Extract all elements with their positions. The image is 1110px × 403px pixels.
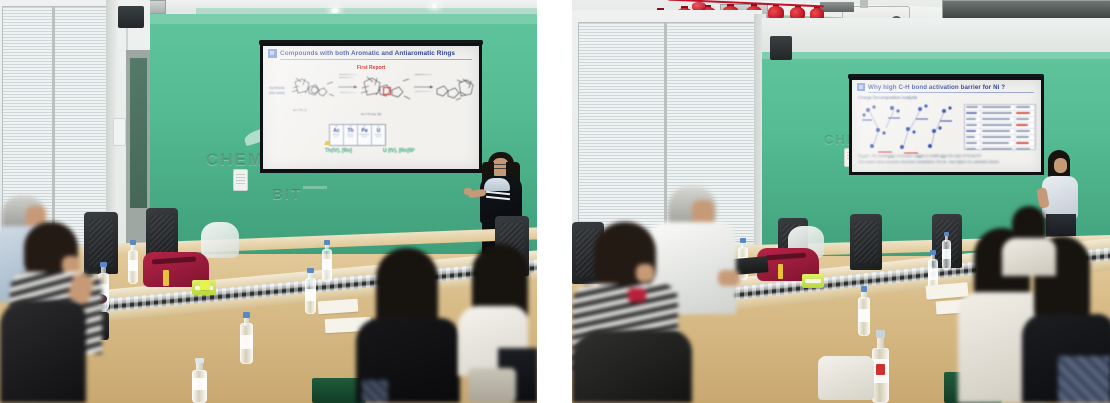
ptable-cell: 92 U Uranium 238.03 bbox=[372, 125, 385, 145]
reaction-condition-5 bbox=[415, 91, 433, 92]
slide-title: Compounds with both Aromatic and Antiaro… bbox=[280, 50, 455, 57]
black-jacket-skirt bbox=[362, 380, 388, 403]
slide-footer-right: U (IV), [Rn]5f² bbox=[383, 148, 415, 154]
projector-mount bbox=[860, 0, 868, 8]
left-photo: CHEM BIT Compounds with both Aromatic an… bbox=[0, 0, 537, 403]
door-glass bbox=[130, 58, 147, 208]
slide-side-label-1: Synthesis bbox=[269, 86, 285, 90]
reaction-condition-1 bbox=[339, 74, 357, 75]
ptable-symbol: Ac bbox=[333, 129, 339, 134]
foreground-dark-body bbox=[0, 300, 86, 403]
foreground-dark-body bbox=[572, 330, 692, 403]
structure-note-2: An = Th (1a, 1b) bbox=[361, 112, 381, 116]
projector-bracket bbox=[820, 2, 854, 12]
ptable-mass: 231.04 bbox=[362, 136, 367, 138]
water-bottle bbox=[305, 268, 316, 314]
green-tissue-box bbox=[802, 274, 824, 288]
slide-title: Why high C-H bond activation barrier for… bbox=[868, 84, 1005, 91]
reaction-arrow-2 bbox=[413, 79, 435, 91]
slide-bullet-icon bbox=[268, 49, 277, 58]
audience-black-jacket bbox=[362, 248, 454, 403]
right-3-top bbox=[1002, 238, 1056, 276]
wall-trim bbox=[303, 186, 327, 189]
slide-footnote-1: Ni > Pd : the contribution of acceptor o… bbox=[858, 154, 982, 158]
bottle-label-accent bbox=[876, 364, 886, 376]
ptable-cell: 90 Th Thorium 232.04 bbox=[344, 125, 358, 145]
white-top-strap bbox=[468, 368, 516, 403]
sticky-note bbox=[200, 282, 210, 290]
slide-side-label-2: (this work) bbox=[269, 91, 285, 95]
water-bottle bbox=[192, 358, 207, 403]
ptable-symbol: Th bbox=[347, 129, 353, 134]
wall-top-highlight bbox=[150, 14, 537, 24]
ptable-number: 90 bbox=[349, 126, 351, 128]
slide-left: Compounds with both Aromatic and Antiaro… bbox=[263, 46, 479, 169]
ptable-number: 89 bbox=[335, 126, 337, 128]
presenter-face bbox=[1054, 158, 1067, 173]
molecule-structure-1 bbox=[289, 76, 335, 110]
water-bottle bbox=[872, 330, 889, 403]
upper-wall bbox=[762, 18, 1110, 52]
water-bottle bbox=[322, 240, 332, 282]
striped-top-ear bbox=[636, 264, 654, 282]
slide-header: Compounds with both Aromatic and Antiaro… bbox=[268, 49, 474, 58]
slide-footer-left: Th(IV), [Rn] bbox=[325, 148, 352, 154]
backpack-tag bbox=[778, 264, 783, 279]
ptable-mass: 232.04 bbox=[348, 136, 353, 138]
slide-footnote-2: The weaker donor-acceptor interaction de… bbox=[858, 160, 1000, 164]
audience-foreground-dark bbox=[572, 330, 692, 403]
ptable-cell: 91 Pa Protactinium 231.04 bbox=[358, 125, 372, 145]
reaction-arrow-1 bbox=[337, 79, 359, 91]
water-bottle bbox=[128, 240, 138, 284]
molecule-structure-3 bbox=[435, 76, 475, 110]
striped-top-collar-accent bbox=[628, 288, 646, 302]
slide-first-report: First Report bbox=[268, 65, 474, 71]
office-chair[interactable] bbox=[850, 214, 882, 270]
molecule-structure-2 bbox=[359, 74, 411, 112]
ptable-symbol: Pa bbox=[361, 129, 367, 134]
presenter-hand bbox=[464, 188, 472, 195]
screenshot-root: CHEM BIT Compounds with both Aromatic an… bbox=[0, 0, 1110, 403]
wall-letters-chem: CHEM bbox=[206, 150, 264, 170]
right-2-skirt bbox=[1058, 356, 1110, 403]
white-mug bbox=[818, 356, 874, 400]
wall-letters-bit: BIT bbox=[272, 186, 302, 203]
audience-white-top bbox=[452, 244, 537, 403]
periodic-table-strip: 89 Ac Actinium (227) 90 Th Thorium 232.0… bbox=[329, 124, 386, 146]
downlight bbox=[330, 8, 340, 13]
data-table bbox=[964, 104, 1036, 150]
water-bottle bbox=[858, 286, 870, 336]
right-photo: CHEM BIT Why high C-H bond activation ba… bbox=[572, 0, 1110, 403]
wall-speaker bbox=[770, 36, 792, 60]
notebook bbox=[318, 299, 359, 315]
slide-subtitle: Charge Decomposition Analysis bbox=[858, 95, 917, 100]
energy-diagram: 0.012.4TS1-3.1 bbox=[858, 102, 958, 158]
presenter-shoulder-panel bbox=[484, 178, 510, 191]
reaction-condition-3 bbox=[340, 92, 356, 93]
white-plastic-bag bbox=[201, 222, 239, 258]
light-switch[interactable] bbox=[233, 169, 248, 191]
slide-title-rule bbox=[868, 92, 1034, 93]
water-bottle bbox=[240, 312, 253, 364]
ptable-number: 91 bbox=[363, 126, 365, 128]
table-row bbox=[965, 147, 1035, 152]
grey-hair-hand bbox=[718, 270, 740, 286]
reaction-condition-4 bbox=[415, 74, 432, 75]
audience-right-3 bbox=[998, 206, 1058, 276]
slide-title-rule bbox=[280, 59, 472, 60]
audience-foreground-dark bbox=[0, 300, 86, 403]
water-bottle bbox=[942, 232, 951, 270]
ptable-symbol: U bbox=[377, 129, 381, 134]
ptable-mass: 238.03 bbox=[376, 136, 381, 138]
slide-header: Why high C-H bond activation barrier for… bbox=[857, 83, 1036, 91]
hand-sanitizer-dispenser bbox=[113, 118, 126, 146]
slide-bullet-icon bbox=[857, 83, 865, 91]
projection-screen: Compounds with both Aromatic and Antiaro… bbox=[263, 46, 479, 169]
downlight bbox=[430, 4, 439, 8]
projection-screen: Why high C-H bond activation barrier for… bbox=[852, 80, 1041, 172]
ptable-cell: 89 Ac Actinium (227) bbox=[330, 125, 344, 145]
structure-note-1: An = Th, U bbox=[293, 108, 306, 112]
ptable-number: 92 bbox=[377, 126, 379, 128]
backpack-tag bbox=[163, 270, 169, 286]
slide-right: Why high C-H bond activation barrier for… bbox=[852, 80, 1041, 172]
ptable-mass: (227) bbox=[334, 136, 338, 138]
ac-unit bbox=[942, 0, 1110, 20]
wall-speaker bbox=[118, 6, 144, 28]
